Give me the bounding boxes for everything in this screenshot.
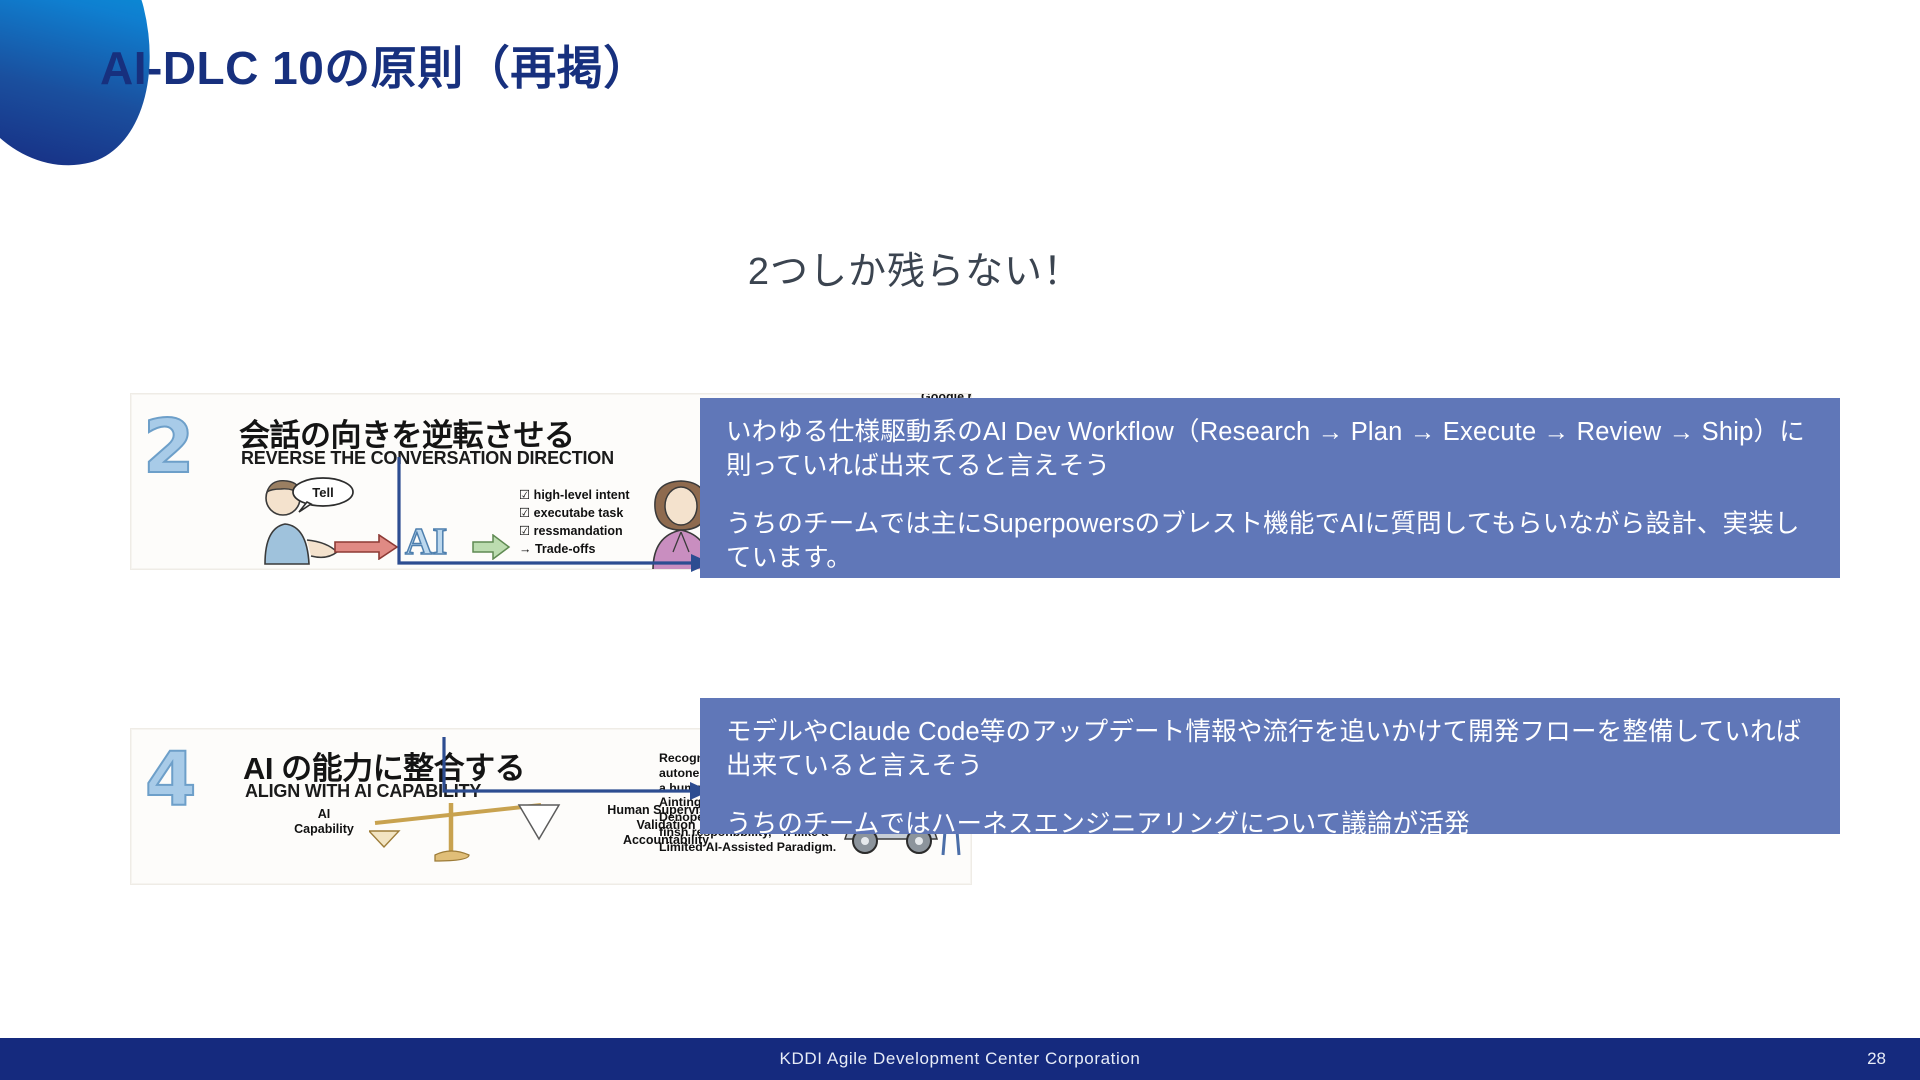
page-number: 28 (1867, 1038, 1886, 1080)
callout-box-2: モデルやClaude Code等のアップデート情報や流行を追いかけて開発フローを… (700, 698, 1840, 834)
principle-number: 4 (145, 743, 197, 817)
callout-box-1: いわゆる仕様駆動系のAI Dev Workflow（Research → Pla… (700, 398, 1840, 578)
principle-number: 2 (143, 410, 195, 484)
scale-left-label: AI Capability (279, 807, 369, 837)
balance-scale-sketch (369, 801, 565, 863)
page-title: AI-DLC 10の原則（再掲） (100, 32, 650, 98)
callout-1-paragraph-1: いわゆる仕様駆動系のAI Dev Workflow（Research → Pla… (726, 416, 1816, 484)
red-arrow-icon (333, 534, 399, 560)
connector-arrow-2 (440, 735, 715, 805)
callout-2-paragraph-2: うちのチームではハーネスエンジニアリングについて議論が活発 (726, 808, 1816, 842)
slide-subtitle-text: 2つしか残らない！ (748, 240, 1082, 295)
callout-1-paragraph-2: うちのチームでは主にSuperpowersのブレスト機能でAIに質問してもらいな… (726, 508, 1816, 576)
footer-company-name: KDDI Agile Development Center Corporatio… (0, 1038, 1920, 1080)
callout-2-paragraph-1: モデルやClaude Code等のアップデート情報や流行を追いかけて開発フローを… (726, 716, 1816, 784)
slide-subtitle: 2つしか残らない！ (0, 240, 1920, 295)
speech-bubble-label: Tell (312, 485, 333, 500)
footer-bar: KDDI Agile Development Center Corporatio… (0, 1038, 1920, 1080)
connector-arrow-1 (395, 455, 715, 580)
